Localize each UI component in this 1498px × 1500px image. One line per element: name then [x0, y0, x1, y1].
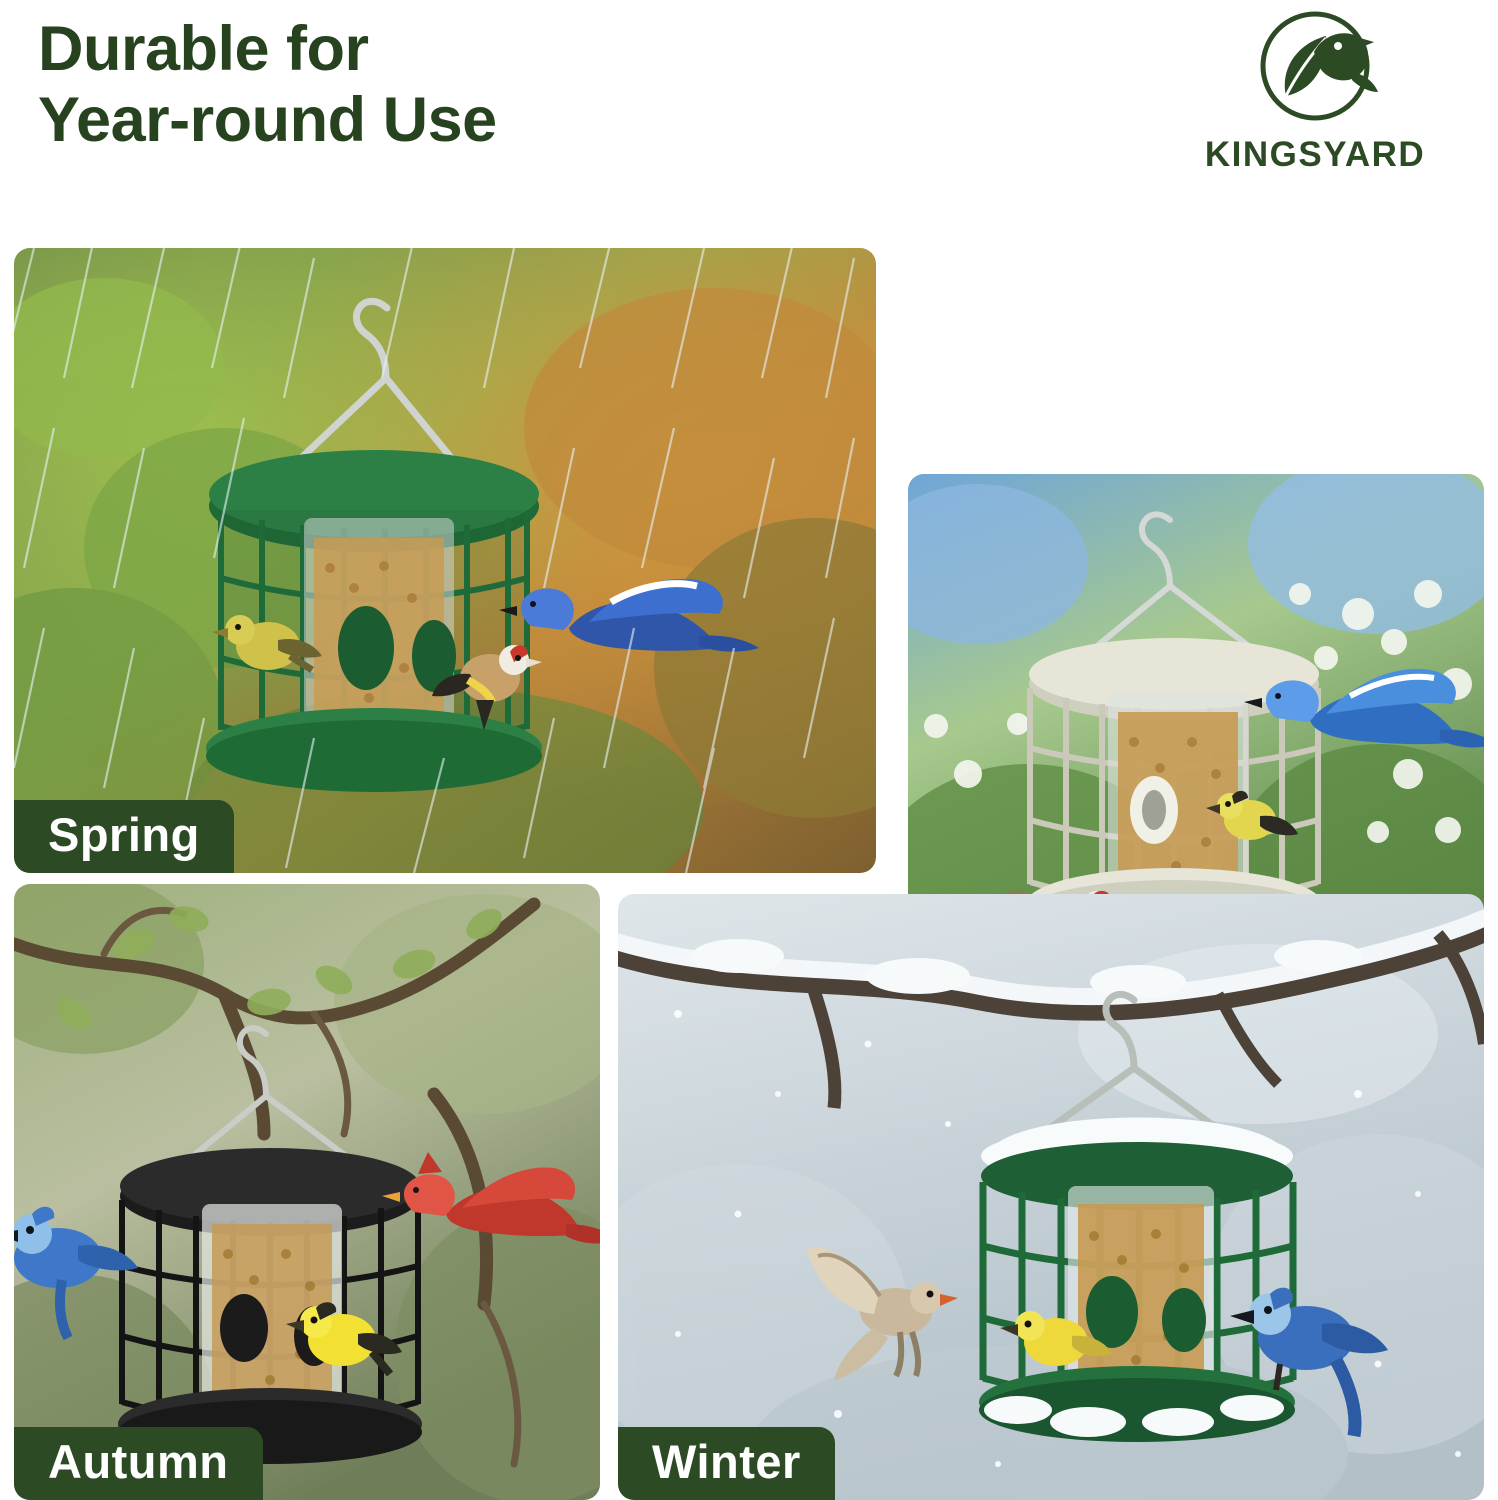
season-label-winter: Winter — [618, 1427, 835, 1500]
headline-line-2: Year-round Use — [38, 85, 938, 156]
page-header: Durable for Year-round Use KINGSYARD — [0, 0, 1498, 232]
gallery-tile-autumn: Autumn — [14, 884, 600, 1500]
season-label-spring: Spring — [14, 800, 234, 873]
winter-photo — [618, 894, 1484, 1500]
autumn-photo — [14, 884, 600, 1500]
spring-photo — [14, 248, 876, 873]
headline-line-1: Durable for — [38, 14, 938, 85]
season-label-autumn: Autumn — [14, 1427, 263, 1500]
brand-name: KINGSYARD — [1205, 135, 1425, 175]
gallery-tile-spring: Spring — [14, 248, 876, 873]
gallery-tile-winter: Winter — [618, 894, 1484, 1500]
page-title: Durable for Year-round Use — [38, 14, 938, 155]
bird-leaf-logo-icon — [1240, 8, 1390, 133]
season-gallery: Spring — [0, 232, 1498, 1500]
brand-logo: KINGSYARD — [1180, 8, 1450, 193]
